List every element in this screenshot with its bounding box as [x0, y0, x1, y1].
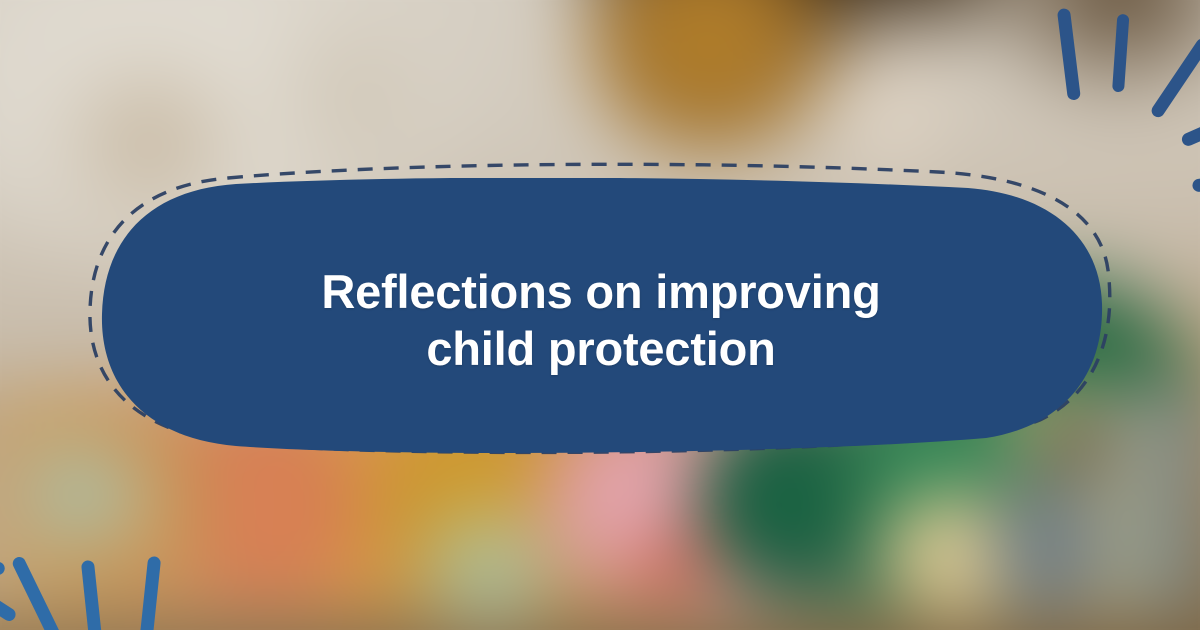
title-line-1: Reflections on improving [321, 263, 880, 320]
bg-toy-red-accent [620, 520, 730, 610]
title-card-text: Reflections on improving child protectio… [96, 178, 1106, 456]
title-line-2: child protection [426, 320, 775, 377]
title-card: Reflections on improving child protectio… [96, 178, 1106, 456]
share-card-canvas: Reflections on improving child protectio… [0, 0, 1200, 630]
